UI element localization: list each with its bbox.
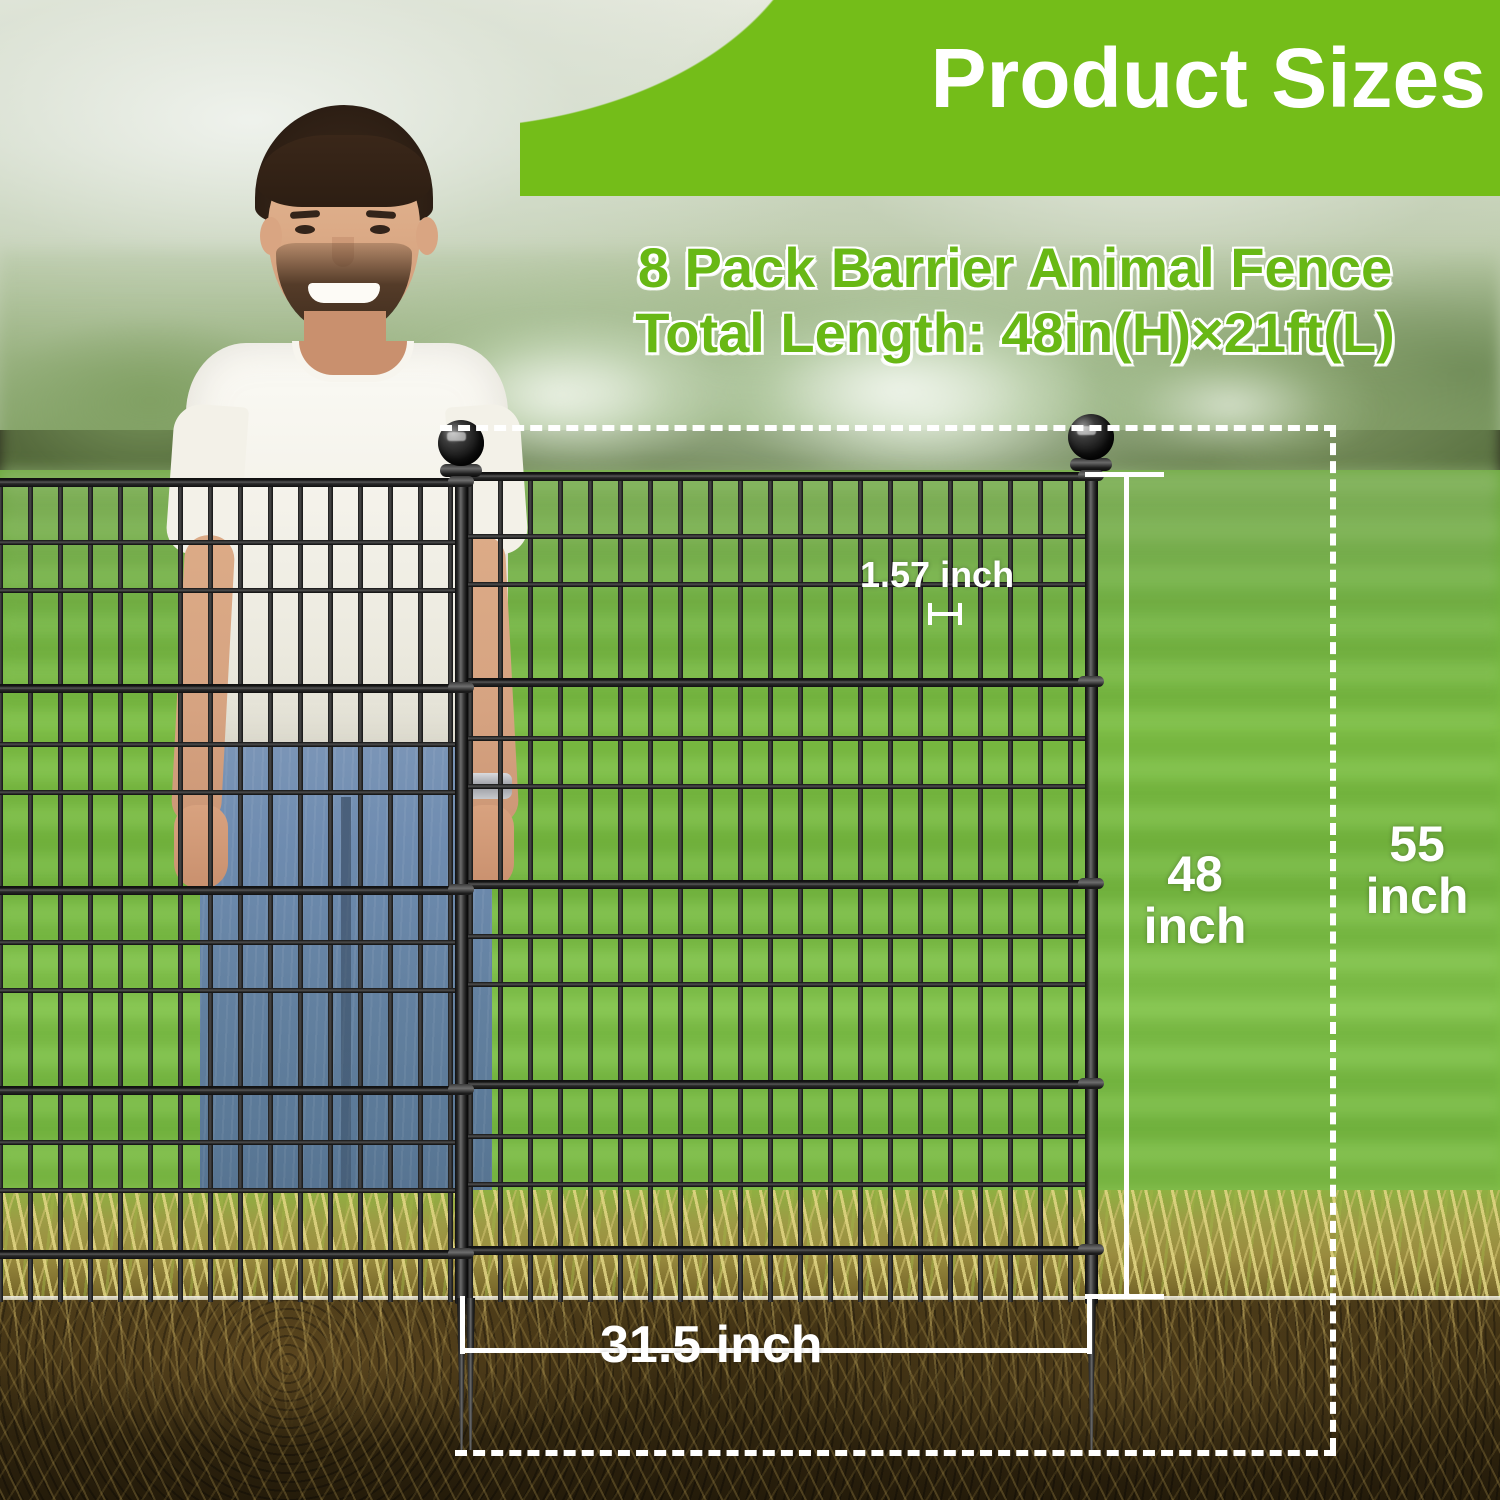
product-pack-line: 8 Pack Barrier Animal Fence [585,236,1445,301]
page-title: Product Sizes [931,30,1486,127]
hand-left [174,805,228,889]
height-55-label: 55 inch [1342,818,1492,922]
smile [308,283,380,303]
gap-1-57-label: 1.57 inch [860,556,1080,593]
height-48-unit: inch [1130,900,1260,952]
wristwatch [460,773,512,799]
height-55-unit: inch [1342,870,1492,922]
jeans [200,725,492,1245]
sleeve-right [445,403,529,558]
height-48-value: 48 [1130,848,1260,900]
eye-right [370,225,390,234]
eye-left [295,225,315,234]
person-figure [150,105,540,1345]
width-31-5-label: 31.5 inch [600,1318,950,1372]
product-description: 8 Pack Barrier Animal Fence Total Length… [585,236,1445,366]
product-length-line: Total Length: 48in(H)×21ft(L) [585,301,1445,366]
product-size-infographic: 48 inch 55 inch 31.5 inch 1.57 inch Prod… [0,0,1500,1500]
height-55-value: 55 [1342,818,1492,870]
hair-front [257,135,431,207]
height-48-label: 48 inch [1130,848,1260,952]
hand-right [460,805,514,889]
ear-right [416,217,438,255]
